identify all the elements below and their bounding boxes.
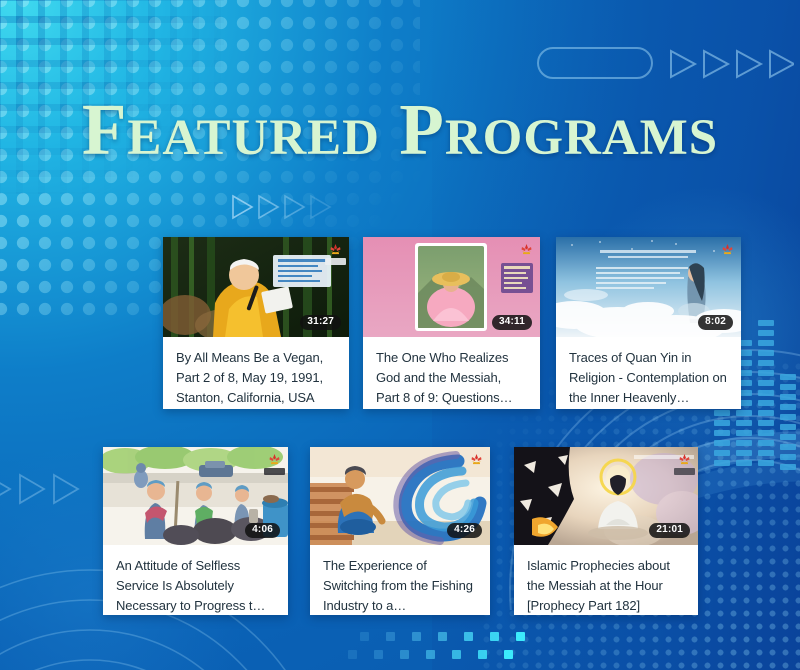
arrow-group-top-right — [668, 48, 794, 80]
program-thumbnail[interactable]: 21:01 — [514, 447, 698, 545]
program-title[interactable]: Traces of Quan Yin in Religion - Contemp… — [556, 337, 741, 409]
duration-badge: 4:06 — [245, 523, 280, 538]
featured-programs-banner: Featured Programs — [0, 0, 800, 670]
logo-subtext — [674, 468, 695, 475]
program-card[interactable]: 4:06 An Attitude of Selfless Service Is … — [103, 447, 288, 615]
program-title[interactable]: The One Who Realizes God and the Messiah… — [363, 337, 540, 409]
program-card[interactable]: 31:27 By All Means Be a Vegan, Part 2 of… — [163, 237, 349, 409]
program-thumbnail[interactable]: 34:11 — [363, 237, 540, 337]
program-thumbnail[interactable]: 4:26 — [310, 447, 490, 545]
logo-subtext — [325, 258, 346, 265]
program-title[interactable]: Islamic Prophecies about the Messiah at … — [514, 545, 698, 615]
program-thumbnail[interactable]: 4:06 — [103, 447, 288, 545]
program-title[interactable]: By All Means Be a Vegan, Part 2 of 8, Ma… — [163, 337, 349, 409]
square-dots-bottom-center — [360, 632, 540, 666]
duration-badge: 8:02 — [698, 315, 733, 330]
chevron-triangles-icon — [0, 472, 92, 506]
lotus-logo-icon — [676, 451, 693, 468]
program-card[interactable]: 34:11 The One Who Realizes God and the M… — [363, 237, 540, 409]
program-card[interactable]: 4:26 The Experience of Switching from th… — [310, 447, 490, 615]
program-thumbnail[interactable]: 31:27 — [163, 237, 349, 337]
duration-badge: 31:27 — [300, 315, 341, 330]
lotus-logo-icon — [719, 241, 736, 258]
pill-outline-decoration — [537, 47, 653, 79]
arrow-group-left-edge — [0, 472, 92, 506]
chevron-triangles-icon — [668, 48, 794, 80]
program-title[interactable]: An Attitude of Selfless Service Is Absol… — [103, 545, 288, 615]
lotus-logo-icon — [266, 451, 283, 468]
program-card[interactable]: 21:01 Islamic Prophecies about the Messi… — [514, 447, 698, 615]
lotus-logo-icon — [468, 451, 485, 468]
program-thumbnail[interactable]: 8:02 — [556, 237, 741, 337]
program-title[interactable]: The Experience of Switching from the Fis… — [310, 545, 490, 615]
lotus-logo-icon — [327, 241, 344, 258]
page-title: Featured Programs — [0, 88, 800, 172]
lotus-logo-icon — [518, 241, 535, 258]
logo-subtext — [264, 468, 285, 475]
duration-badge: 34:11 — [492, 315, 532, 330]
duration-badge: 21:01 — [649, 523, 690, 538]
chevron-triangles-icon — [231, 194, 335, 220]
duration-badge: 4:26 — [447, 523, 482, 538]
arrow-group-mid-left — [231, 194, 335, 220]
program-card[interactable]: 8:02 Traces of Quan Yin in Religion - Co… — [556, 237, 741, 409]
